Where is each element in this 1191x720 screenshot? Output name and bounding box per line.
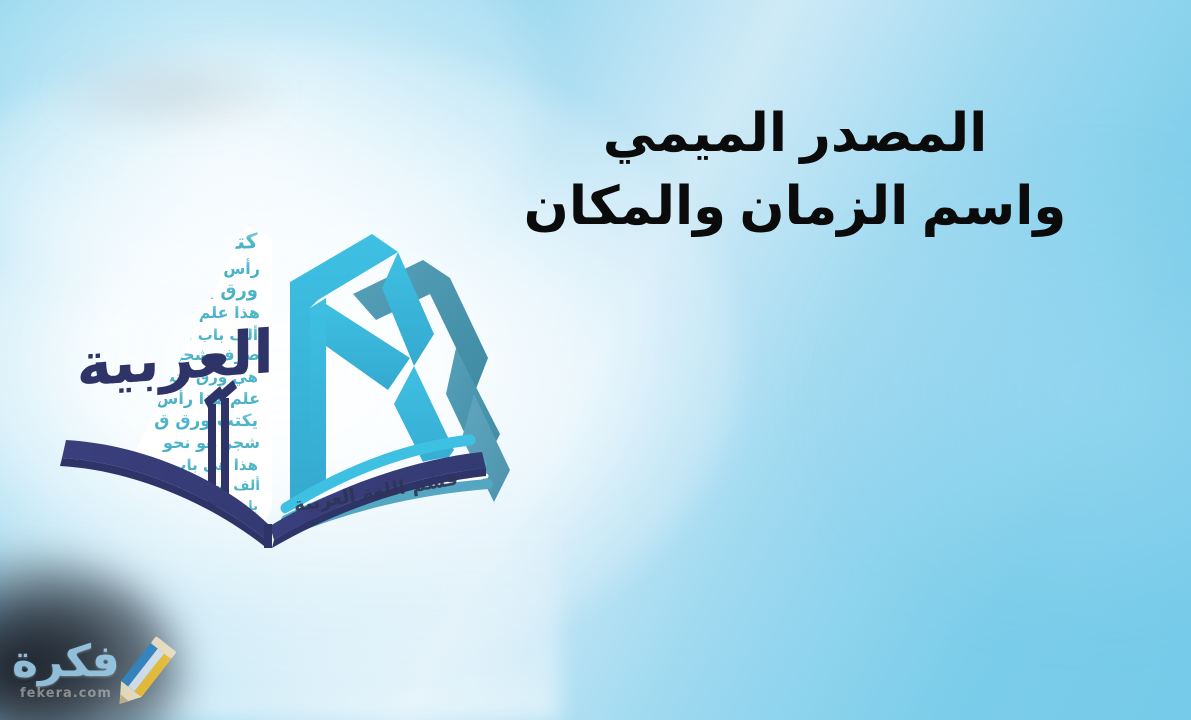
page-title: المصدر الميمي واسم الزمان والمكان bbox=[515, 98, 1075, 244]
page-title-line-1: المصدر الميمي bbox=[515, 98, 1075, 171]
background-smudge bbox=[60, 58, 280, 128]
page-title-line-2: واسم الزمان والمكان bbox=[515, 171, 1075, 244]
svg-text:ورق يكتب: ورق يكتب bbox=[170, 280, 258, 301]
pencil-icon bbox=[100, 632, 186, 716]
logo-calligraphy-word: العربية bbox=[104, 300, 274, 422]
watermark-brand-latin: fekera.com bbox=[20, 686, 112, 701]
svg-text:رأس شجر: رأس شجر bbox=[179, 258, 260, 278]
site-watermark: فكرة fekera.com bbox=[8, 636, 238, 712]
svg-text:كتب: كتب bbox=[214, 229, 259, 255]
slide-canvas: المصدر الميمي واسم الزمان والمكان bbox=[0, 0, 1191, 720]
